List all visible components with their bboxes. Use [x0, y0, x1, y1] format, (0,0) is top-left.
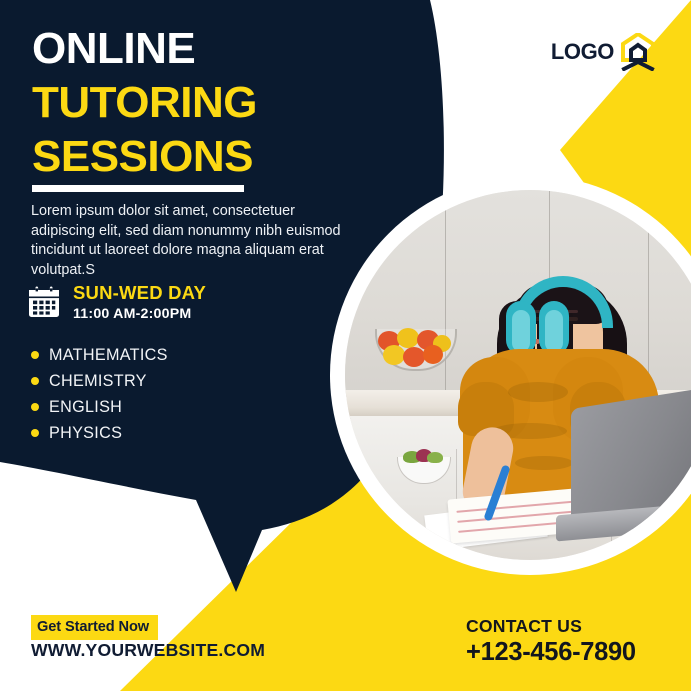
list-item: CHEMISTRY [31, 368, 168, 394]
student-photo [345, 190, 691, 560]
headline-line-1: ONLINE [32, 22, 362, 76]
poster-canvas: LOGO ONLINE TUTORING SESSIONS Lorem ipsu… [0, 0, 691, 691]
bullet-icon [31, 377, 39, 385]
bullet-icon [31, 403, 39, 411]
contact-block: CONTACT US +123-456-7890 [466, 616, 636, 667]
brand-logo[interactable]: LOGO [551, 33, 655, 71]
schedule-block: SUN-WED DAY 11:00 AM-2:00PM [27, 284, 206, 321]
subject-list: MATHEMATICS CHEMISTRY ENGLISH PHYSICS [31, 342, 168, 446]
list-item: PHYSICS [31, 420, 168, 446]
body-copy: Lorem ipsum dolor sit amet, consectetuer… [31, 202, 353, 280]
headline-line-3: SESSIONS [32, 130, 362, 184]
website-url[interactable]: WWW.YOURWEBSITE.COM [31, 640, 265, 661]
fruit-bowl [375, 323, 453, 379]
title-divider [32, 185, 244, 192]
calendar-icon [27, 285, 61, 319]
subject-label: ENGLISH [49, 398, 122, 417]
list-item: MATHEMATICS [31, 342, 168, 368]
page-title: ONLINE TUTORING SESSIONS [32, 22, 362, 184]
schedule-time: 11:00 AM-2:00PM [73, 307, 206, 321]
contact-phone[interactable]: +123-456-7890 [466, 638, 636, 667]
subject-label: CHEMISTRY [49, 372, 147, 391]
subject-label: PHYSICS [49, 424, 122, 443]
house-shield-logo-icon [621, 33, 655, 71]
get-started-button[interactable]: Get Started Now [31, 615, 158, 640]
schedule-days: SUN-WED DAY [73, 284, 206, 303]
bullet-icon [31, 429, 39, 437]
logo-text: LOGO [551, 39, 614, 65]
bullet-icon [31, 351, 39, 359]
contact-label: CONTACT US [466, 616, 636, 637]
salad-bowl [397, 449, 449, 483]
subject-label: MATHEMATICS [49, 346, 168, 365]
headline-line-2: TUTORING [32, 76, 362, 130]
list-item: ENGLISH [31, 394, 168, 420]
